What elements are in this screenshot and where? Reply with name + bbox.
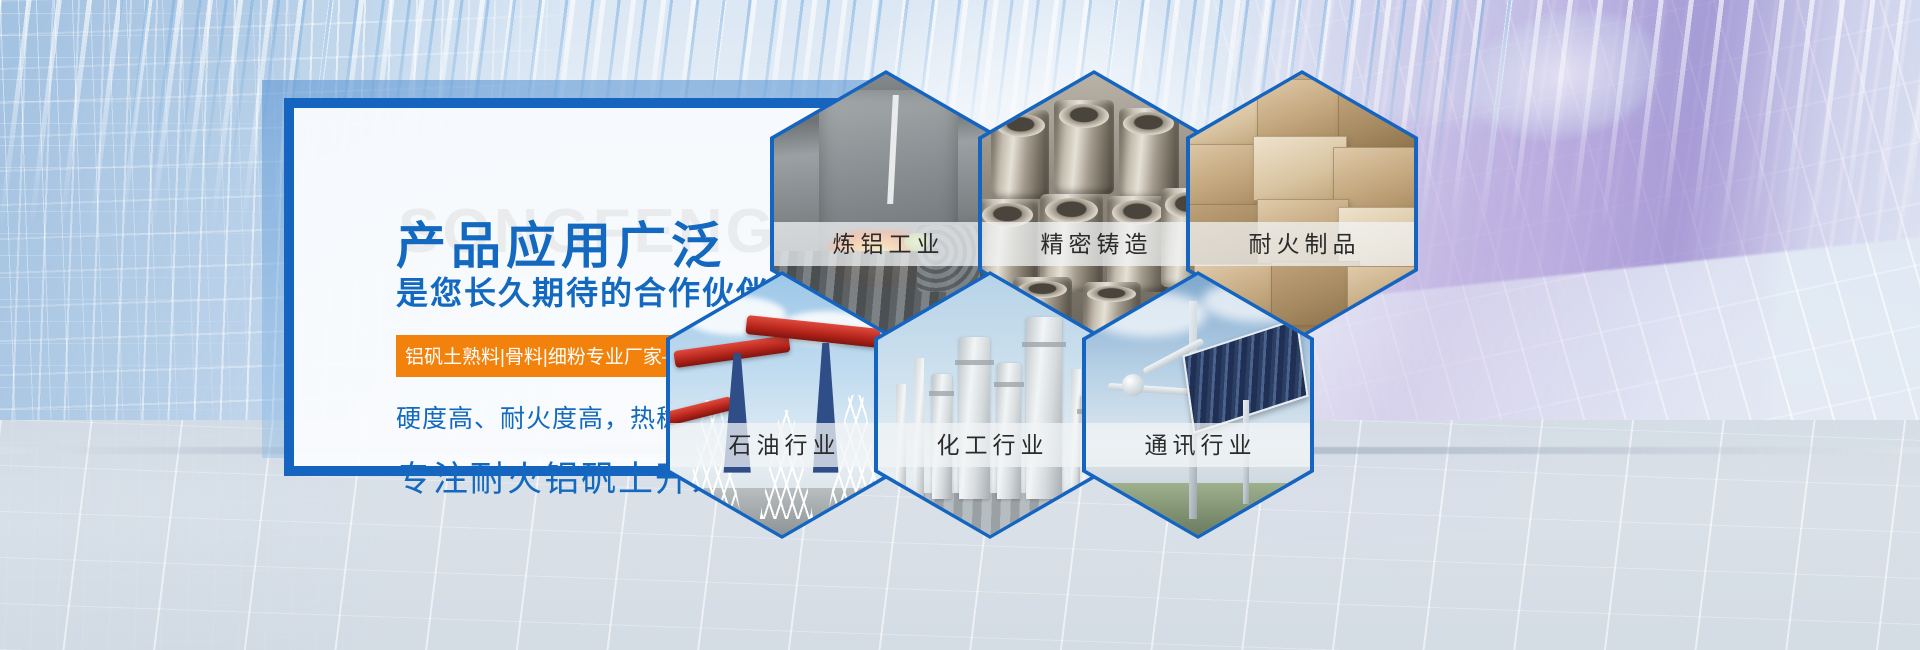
hexagon-label: 耐火制品 <box>1190 222 1414 266</box>
hexagon-label: 石油行业 <box>670 423 894 467</box>
hexagon-label: 化工行业 <box>878 423 1102 467</box>
hexagon-label: 炼铝工业 <box>774 222 998 266</box>
page-subtitle: 是您长久期待的合作伙伴 <box>396 268 770 314</box>
product-application-banner: SONGFENG 产品应用广泛 是您长久期待的合作伙伴 铝矾土熟料|骨料|细粉专… <box>0 0 1920 650</box>
hexagon-label: 精密铸造 <box>982 222 1206 266</box>
industry-hexagon-grid: 炼铝工业 精密铸造 <box>770 70 1490 590</box>
hexagon-label: 通讯行业 <box>1086 423 1310 467</box>
